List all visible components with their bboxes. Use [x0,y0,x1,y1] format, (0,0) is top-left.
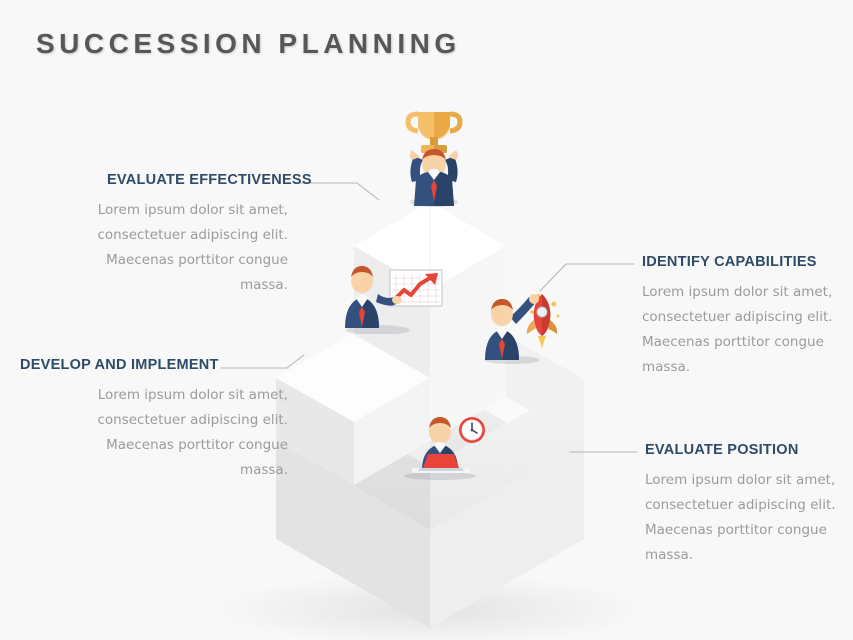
step-block-identify-capabilities: IDENTIFY CAPABILITIES Lorem ipsum dolor … [642,254,853,380]
trophy-winner-icon [388,98,480,208]
body-line-2: consectetuer adipiscing elit. [88,223,288,248]
body-line-1: Lorem ipsum dolor sit amet, [642,280,853,305]
step-body-develop-and-implement: Lorem ipsum dolor sit amet, consectetuer… [8,383,288,483]
laptop-clock-icon [398,408,502,480]
slide-canvas: SUCCESSION PLANNING [0,0,853,640]
body-line-4: massa. [88,273,288,298]
body-line-1: Lorem ipsum dolor sit amet, [645,468,853,493]
body-line-2: consectetuer adipiscing elit. [642,305,853,330]
step-heading-identify-capabilities: IDENTIFY CAPABILITIES [642,254,853,270]
body-line-3: Maecenas porttitor congue [642,330,853,355]
body-line-3: Maecenas porttitor congue [645,518,853,543]
step-block-evaluate-effectiveness: EVALUATE EFFECTIVENESS Lorem ipsum dolor… [88,172,288,298]
body-line-2: consectetuer adipiscing elit. [645,493,853,518]
step-heading-evaluate-position: EVALUATE POSITION [645,442,853,458]
body-line-4: massa. [8,458,288,483]
step-block-evaluate-position: EVALUATE POSITION Lorem ipsum dolor sit … [645,442,853,568]
step-block-develop-and-implement: DEVELOP AND IMPLEMENT Lorem ipsum dolor … [8,357,288,483]
step-body-evaluate-position: Lorem ipsum dolor sit amet, consectetuer… [645,468,853,568]
body-line-4: massa. [642,355,853,380]
body-line-1: Lorem ipsum dolor sit amet, [88,198,288,223]
body-line-3: Maecenas porttitor congue [88,248,288,273]
body-line-4: massa. [645,543,853,568]
step-body-identify-capabilities: Lorem ipsum dolor sit amet, consectetuer… [642,280,853,380]
body-line-1: Lorem ipsum dolor sit amet, [8,383,288,408]
rocket-launch-icon [472,282,576,364]
step-heading-develop-and-implement: DEVELOP AND IMPLEMENT [20,357,288,373]
body-line-3: Maecenas porttitor congue [8,433,288,458]
step-body-evaluate-effectiveness: Lorem ipsum dolor sit amet, consectetuer… [88,198,288,298]
step-heading-evaluate-effectiveness: EVALUATE EFFECTIVENESS [107,172,288,188]
body-line-2: consectetuer adipiscing elit. [8,408,288,433]
presenter-chart-icon [332,256,448,334]
